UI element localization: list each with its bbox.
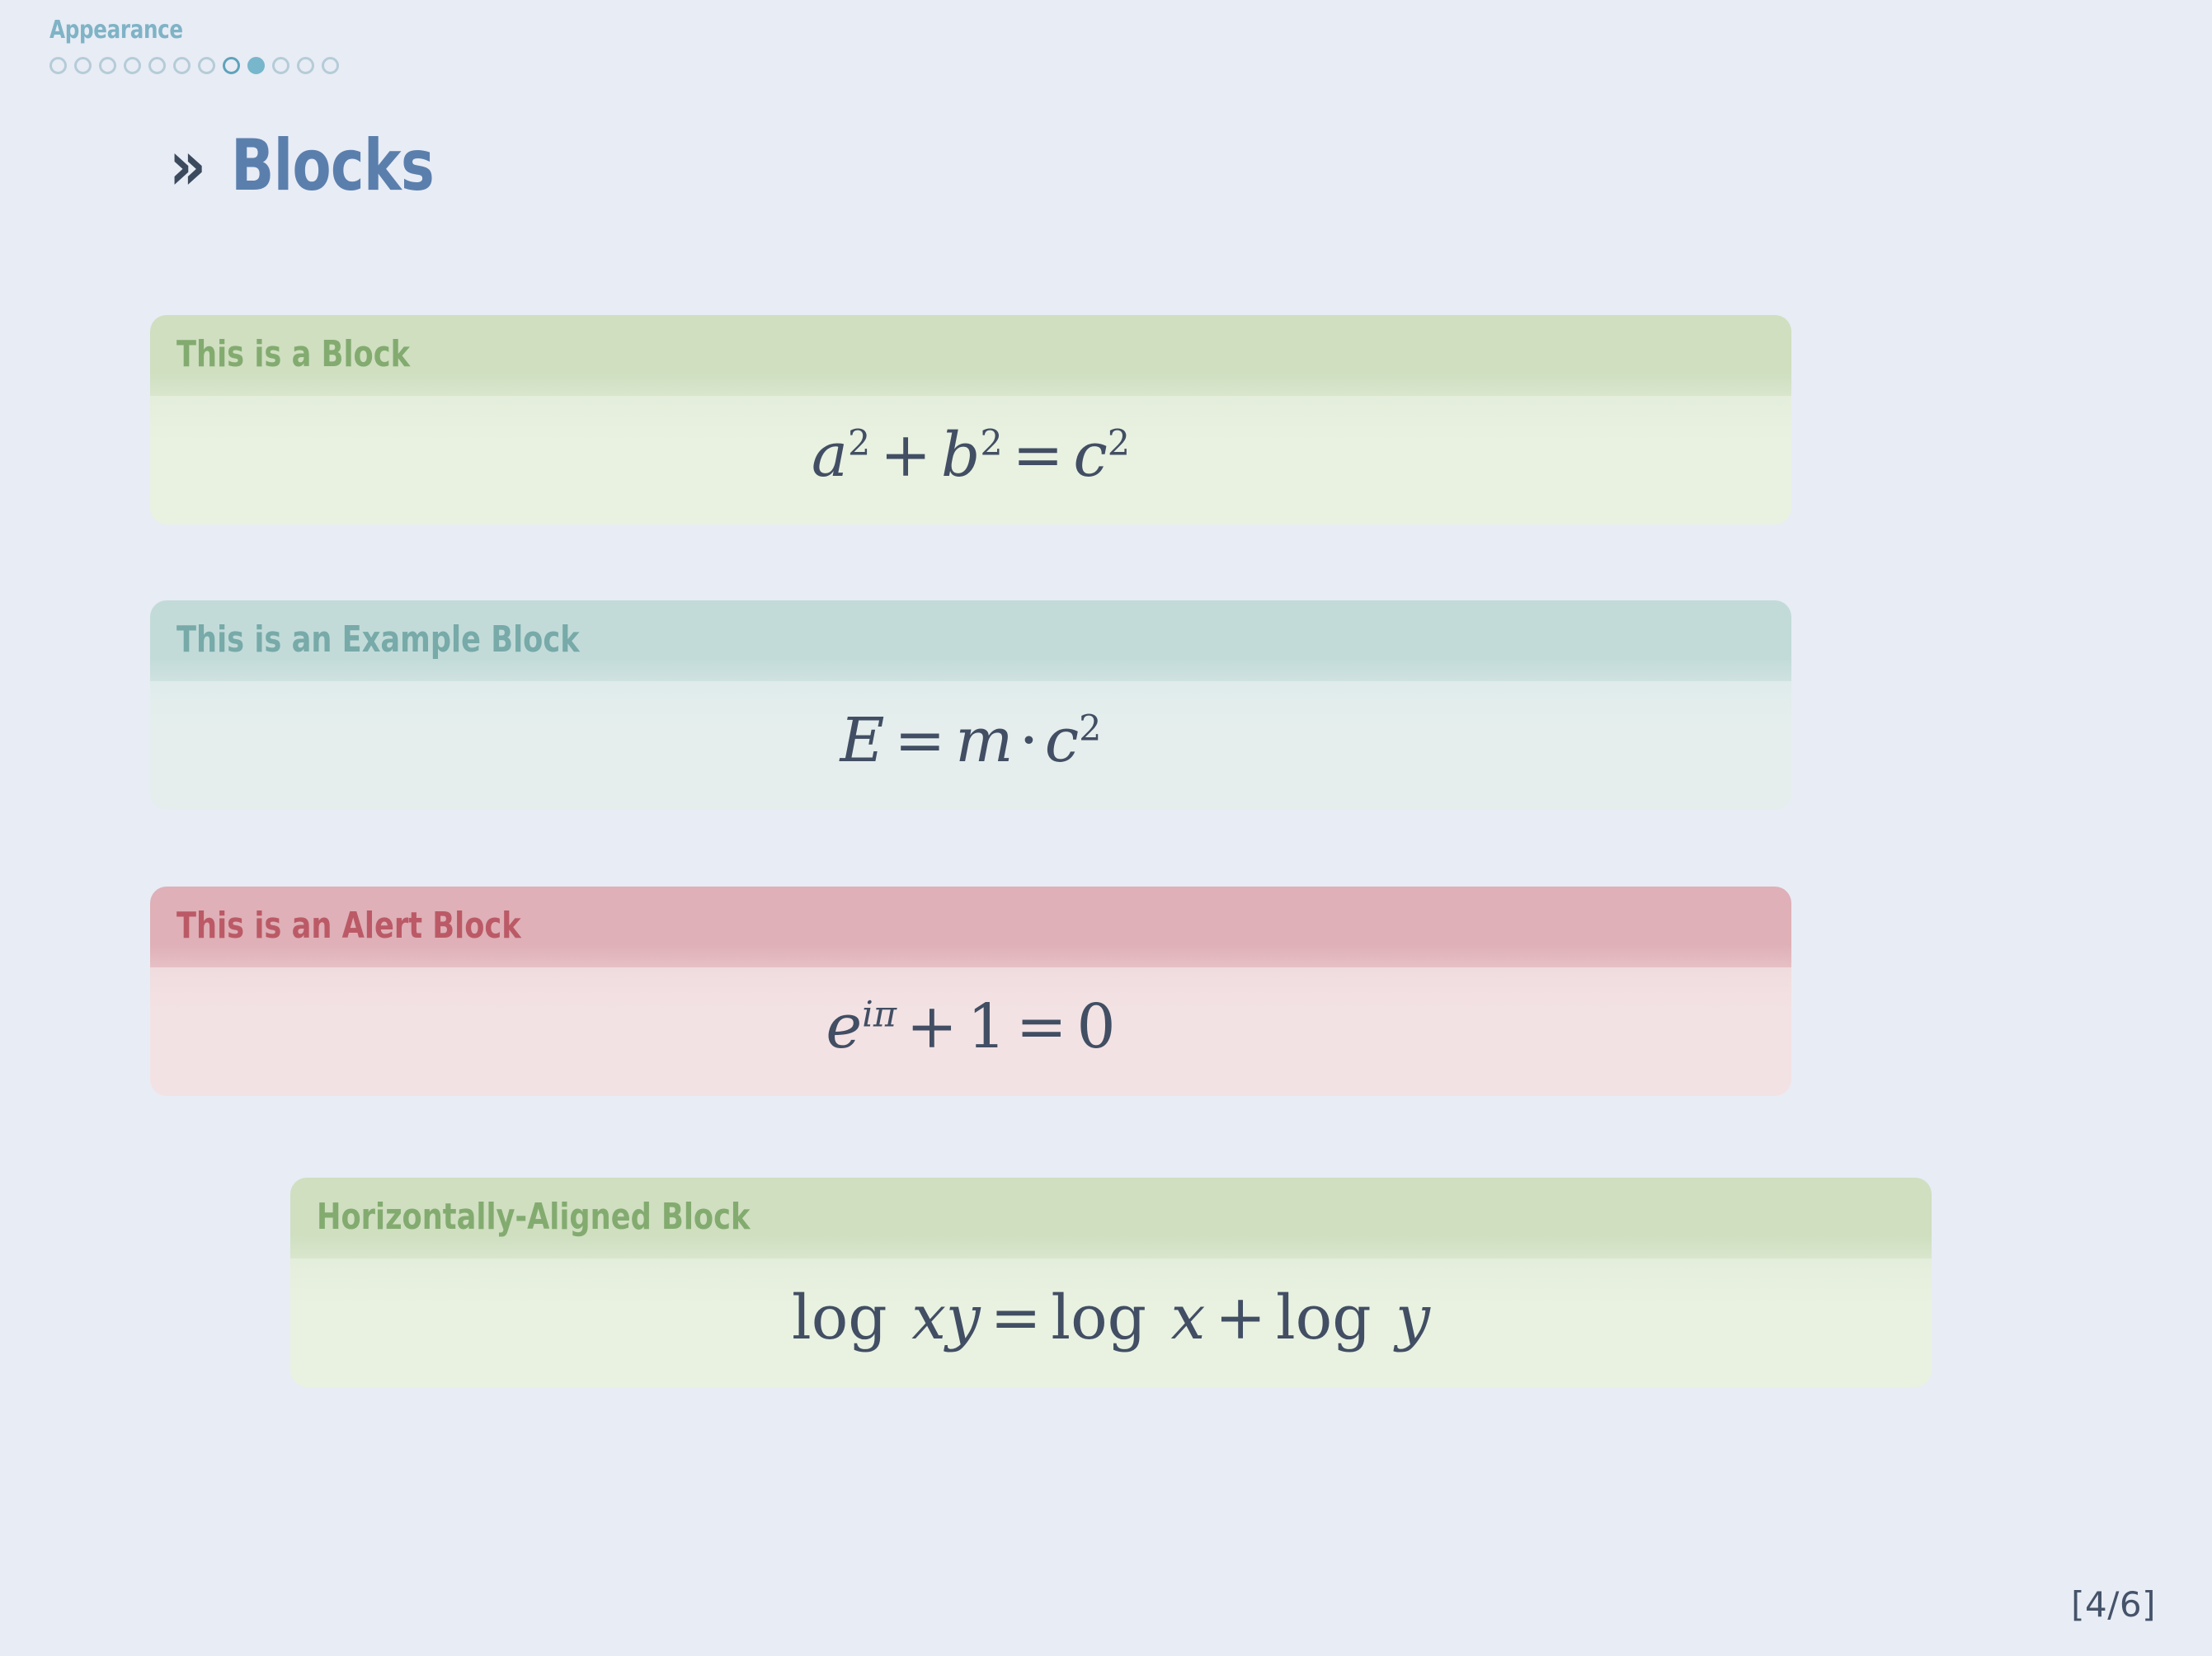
math-symbol: i xyxy=(862,994,873,1035)
math-operator: = xyxy=(1006,991,1077,1062)
formula-eulers-identity: eiπ+1=0 xyxy=(826,995,1115,1060)
math-operator: = xyxy=(885,705,956,776)
block-horizontally-aligned-body: log xy=log x+log y xyxy=(290,1258,1932,1387)
section-progress-dots xyxy=(49,53,1039,78)
math-number: 1 xyxy=(967,991,1006,1062)
math-symbol: m xyxy=(955,705,1013,776)
math-symbol: c xyxy=(1073,420,1107,491)
block-horizontally-aligned: Horizontally-Aligned Block log xy=log x+… xyxy=(290,1178,1932,1387)
formula-mass-energy: E=m·c2 xyxy=(840,709,1102,774)
block-standard-body: a2+b2=c2 xyxy=(150,396,1791,525)
title-chevron-icon: » xyxy=(169,132,206,201)
nav-dot-8-seen[interactable] xyxy=(223,57,240,74)
block-horizontally-aligned-title: Horizontally-Aligned Block xyxy=(290,1178,1932,1258)
nav-dot-7-inactive[interactable] xyxy=(198,57,215,74)
formula-pythagorean: a2+b2=c2 xyxy=(812,424,1130,488)
nav-dot-5-inactive[interactable] xyxy=(148,57,166,74)
nav-dot-12-inactive[interactable] xyxy=(322,57,339,74)
math-symbol: a xyxy=(812,420,848,491)
math-operator: + xyxy=(1205,1282,1276,1353)
nav-dot-9-current[interactable] xyxy=(247,57,265,74)
block-alert-title: This is an Alert Block xyxy=(150,887,1791,967)
nav-dot-2-inactive[interactable] xyxy=(74,57,92,74)
math-symbol: xy xyxy=(911,1282,981,1353)
section-name: Appearance xyxy=(49,18,861,43)
block-example: This is an Example Block E=m·c2 xyxy=(150,600,1791,810)
math-operator: · xyxy=(1013,705,1044,776)
block-example-body: E=m·c2 xyxy=(150,681,1791,810)
math-symbol: y xyxy=(1395,1282,1430,1353)
math-operator: = xyxy=(981,1282,1052,1353)
nav-dot-1-inactive[interactable] xyxy=(49,57,67,74)
block-standard: This is a Block a2+b2=c2 xyxy=(150,315,1791,525)
nav-dot-11-inactive[interactable] xyxy=(297,57,314,74)
math-exponent: 2 xyxy=(1108,422,1130,463)
math-symbol: E xyxy=(840,705,885,776)
math-symbol: e xyxy=(826,991,862,1062)
block-standard-title: This is a Block xyxy=(150,315,1791,396)
math-function: log xyxy=(1276,1282,1372,1353)
page-indicator: [4/6] xyxy=(2071,1584,2156,1625)
math-exponent: 2 xyxy=(848,422,870,463)
nav-dot-4-inactive[interactable] xyxy=(124,57,141,74)
math-operator: + xyxy=(870,420,941,491)
math-symbol: π xyxy=(873,994,897,1035)
nav-dot-3-inactive[interactable] xyxy=(99,57,116,74)
math-function: log xyxy=(792,1282,887,1353)
math-exponent: iπ xyxy=(862,994,897,1035)
block-example-title: This is an Example Block xyxy=(150,600,1791,681)
math-symbol: x xyxy=(1171,1282,1206,1353)
math-function: log xyxy=(1051,1282,1146,1353)
block-alert-body: eiπ+1=0 xyxy=(150,967,1791,1096)
math-exponent: 2 xyxy=(1079,708,1101,749)
math-exponent: 2 xyxy=(980,422,1002,463)
block-alert: This is an Alert Block eiπ+1=0 xyxy=(150,887,1791,1096)
math-operator: = xyxy=(1003,420,1074,491)
formula-logarithm-product: log xy=log x+log y xyxy=(792,1287,1430,1351)
math-number: 0 xyxy=(1077,991,1116,1062)
math-symbol: b xyxy=(941,420,980,491)
page-title: Blocks xyxy=(231,130,434,201)
slide-navigation-header: Appearance xyxy=(49,18,1039,78)
nav-dot-6-inactive[interactable] xyxy=(173,57,191,74)
math-operator: + xyxy=(897,991,967,1062)
nav-dot-10-inactive[interactable] xyxy=(272,57,289,74)
frame-title: » Blocks xyxy=(169,130,484,201)
math-symbol: c xyxy=(1045,705,1079,776)
